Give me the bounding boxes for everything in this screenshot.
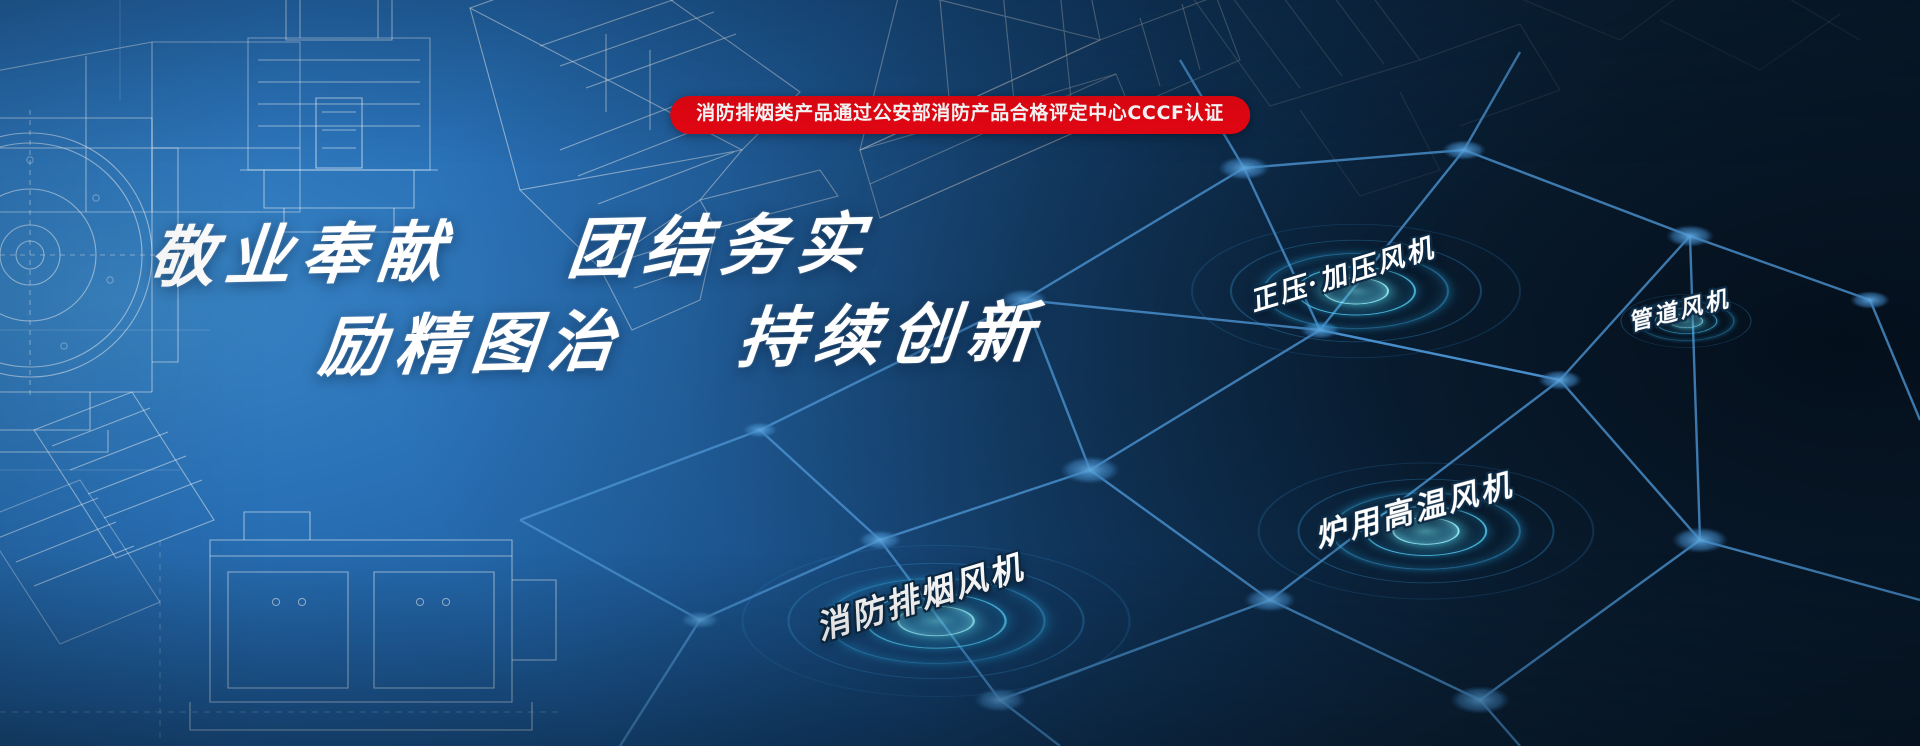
slogan-spacer bbox=[485, 273, 533, 274]
slogan-spacer bbox=[655, 362, 703, 363]
slogan-line1-part1: 敬业奉献 bbox=[145, 213, 458, 297]
slogan-line1-part2: 团结务实 bbox=[564, 204, 877, 288]
slogan-line-2: 励精图治 持续创新 bbox=[315, 294, 915, 387]
slogan-line-1: 敬业奉献 团结务实 bbox=[145, 202, 915, 298]
product-node-smoke[interactable]: 消防排烟风机 bbox=[935, 620, 936, 621]
certification-banner: 消防排烟类产品通过公安部消防产品合格评定中心CCCF认证 bbox=[670, 96, 1250, 134]
product-node-pressure[interactable]: 正压·加压风机 bbox=[1355, 290, 1356, 291]
hero-banner: 正压·加压风机 管道风机 炉用高温风机 消防排烟风机 敬业奉献 团结务实 励精图… bbox=[0, 0, 1920, 746]
company-slogan: 敬业奉献 团结务实 励精图治 持续创新 bbox=[150, 210, 910, 381]
slogan-line2-part2: 持续创新 bbox=[734, 293, 1047, 377]
product-node-duct[interactable]: 管道风机 bbox=[1685, 320, 1686, 321]
product-node-hightemp[interactable]: 炉用高温风机 bbox=[1425, 530, 1426, 531]
slogan-line2-part1: 励精图治 bbox=[315, 301, 628, 385]
